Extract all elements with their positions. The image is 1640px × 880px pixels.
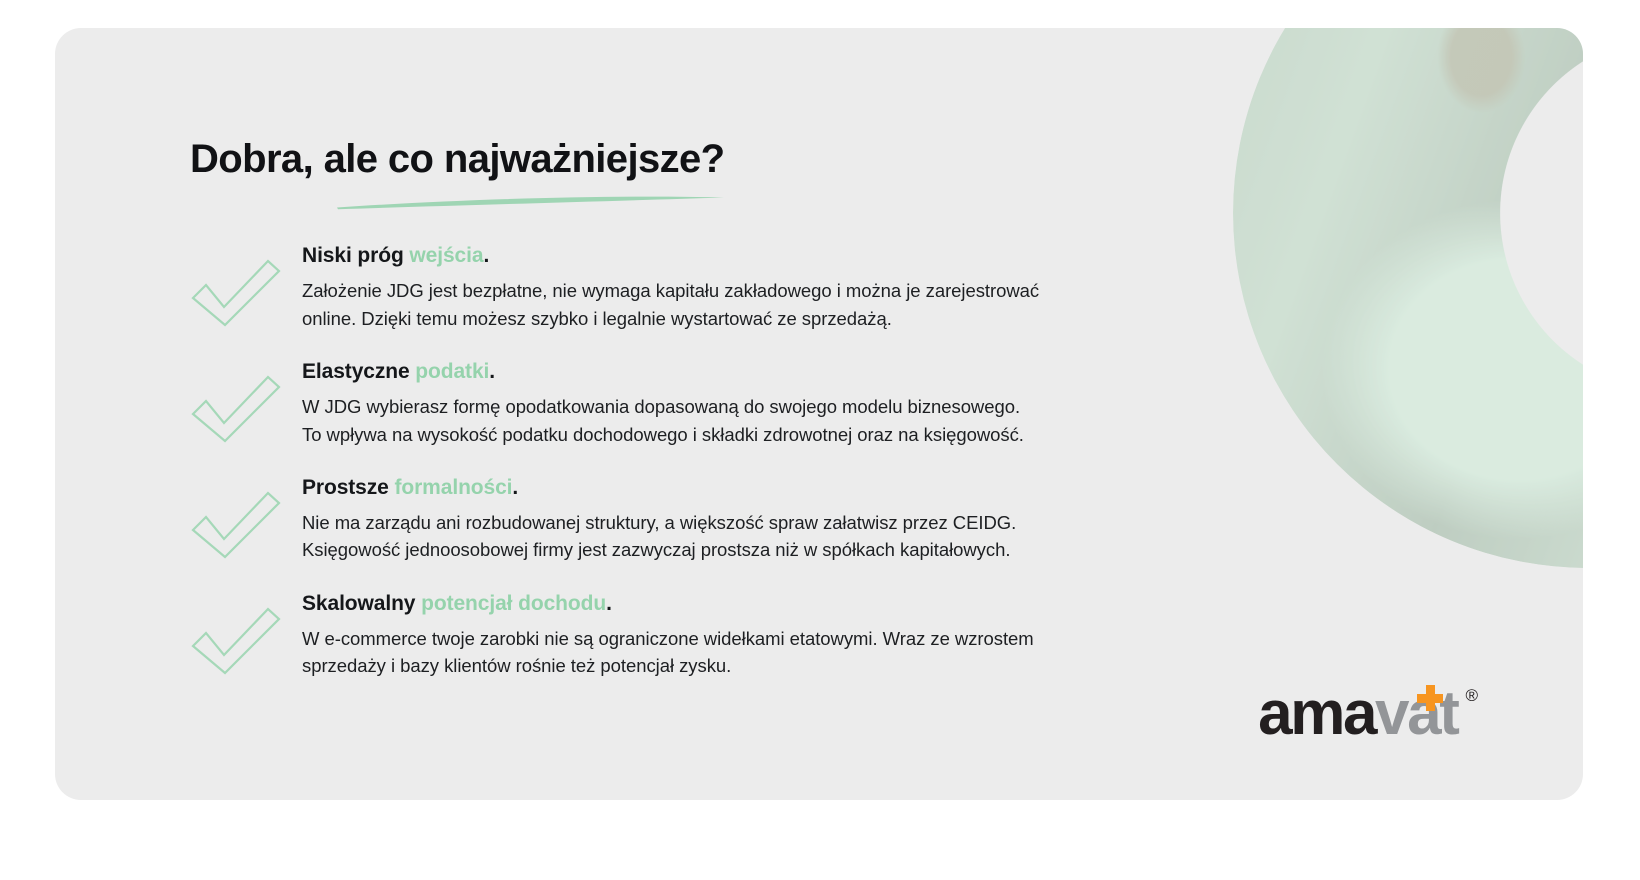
bullet-heading: Prostsze formalności. — [302, 475, 1250, 500]
bullet-heading-dot: . — [489, 360, 495, 383]
bullet-heading: Elastyczne podatki. — [302, 359, 1250, 384]
worker-photo-image — [1233, 28, 1583, 568]
list-item: Prostsze formalności. Nie ma zarządu ani… — [190, 475, 1250, 564]
check-cell — [190, 475, 302, 561]
bullet-text: Prostsze formalności. Nie ma zarządu ani… — [302, 475, 1250, 564]
photo-white-wash-overlay — [1233, 28, 1583, 568]
bullet-heading-plain: Niski próg — [302, 244, 409, 267]
bullet-body-line: To wpływa na wysokość podatku dochodoweg… — [302, 421, 1250, 448]
content-card: Dobra, ale co najważniejsze? Niski próg … — [55, 28, 1583, 800]
photo-green-tint-overlay — [1233, 28, 1583, 568]
bullet-body: W e-commerce twoje zarobki nie są ograni… — [302, 625, 1250, 680]
green-swoosh-underline-icon — [335, 192, 727, 210]
bullet-heading-accent: podatki — [415, 360, 489, 383]
bullet-heading-accent: potencjał dochodu — [421, 592, 606, 615]
logo-text-vat: vat — [1375, 679, 1457, 748]
bullet-body-line: W JDG wybierasz formę opodatkowania dopa… — [302, 393, 1250, 420]
bullet-text: Niski próg wejścia. Założenie JDG jest b… — [302, 243, 1250, 332]
bullet-body-line: W e-commerce twoje zarobki nie są ograni… — [302, 625, 1250, 652]
list-item: Skalowalny potencjał dochodu. W e-commer… — [190, 591, 1250, 680]
bullet-body-line: Nie ma zarządu ani rozbudowanej struktur… — [302, 509, 1250, 536]
bullet-heading-dot: . — [483, 244, 489, 267]
bullet-heading-plain: Elastyczne — [302, 360, 415, 383]
bullet-heading-dot: . — [512, 476, 518, 499]
bullet-heading-plain: Prostsze — [302, 476, 394, 499]
check-mark-icon — [190, 489, 282, 561]
bullet-heading: Niski próg wejścia. — [302, 243, 1250, 268]
bullet-body-line: online. Dzięki temu możesz szybko i lega… — [302, 305, 1250, 332]
bullet-heading-accent: wejścia — [409, 244, 483, 267]
logo-wordmark: amavat — [1258, 683, 1457, 745]
bullet-body: Założenie JDG jest bezpłatne, nie wymaga… — [302, 277, 1250, 332]
bullet-body-line: Założenie JDG jest bezpłatne, nie wymaga… — [302, 277, 1250, 304]
bullet-heading: Skalowalny potencjał dochodu. — [302, 591, 1250, 616]
bullet-heading-plain: Skalowalny — [302, 592, 421, 615]
worker-photo-ring — [1233, 28, 1583, 568]
check-mark-icon — [190, 257, 282, 329]
benefits-list: Niski próg wejścia. Założenie JDG jest b… — [190, 243, 1250, 680]
registered-trademark-symbol: ® — [1465, 687, 1478, 704]
bullet-body: Nie ma zarządu ani rozbudowanej struktur… — [302, 509, 1250, 564]
check-cell — [190, 243, 302, 329]
bullet-heading-dot: . — [606, 592, 612, 615]
list-item: Elastyczne podatki. W JDG wybierasz form… — [190, 359, 1250, 448]
bullet-body-line: sprzedaży i bazy klientów rośnie też pot… — [302, 652, 1250, 679]
page-title: Dobra, ale co najważniejsze? — [190, 136, 725, 182]
heading-block: Dobra, ale co najważniejsze? — [190, 136, 725, 182]
list-item: Niski próg wejścia. Założenie JDG jest b… — [190, 243, 1250, 332]
logo-text-ama: ama — [1258, 679, 1375, 748]
check-mark-icon — [190, 373, 282, 445]
slide-root: Dobra, ale co najważniejsze? Niski próg … — [0, 0, 1640, 880]
bullet-body-line: Księgowość jednoosobowej firmy jest zazw… — [302, 536, 1250, 563]
check-cell — [190, 359, 302, 445]
amavat-logo: amavat ® — [1258, 683, 1478, 745]
bullet-body: W JDG wybierasz formę opodatkowania dopa… — [302, 393, 1250, 448]
check-cell — [190, 591, 302, 677]
bullet-text: Skalowalny potencjał dochodu. W e-commer… — [302, 591, 1250, 680]
check-mark-icon — [190, 605, 282, 677]
bullet-heading-accent: formalności — [394, 476, 512, 499]
bullet-text: Elastyczne podatki. W JDG wybierasz form… — [302, 359, 1250, 448]
